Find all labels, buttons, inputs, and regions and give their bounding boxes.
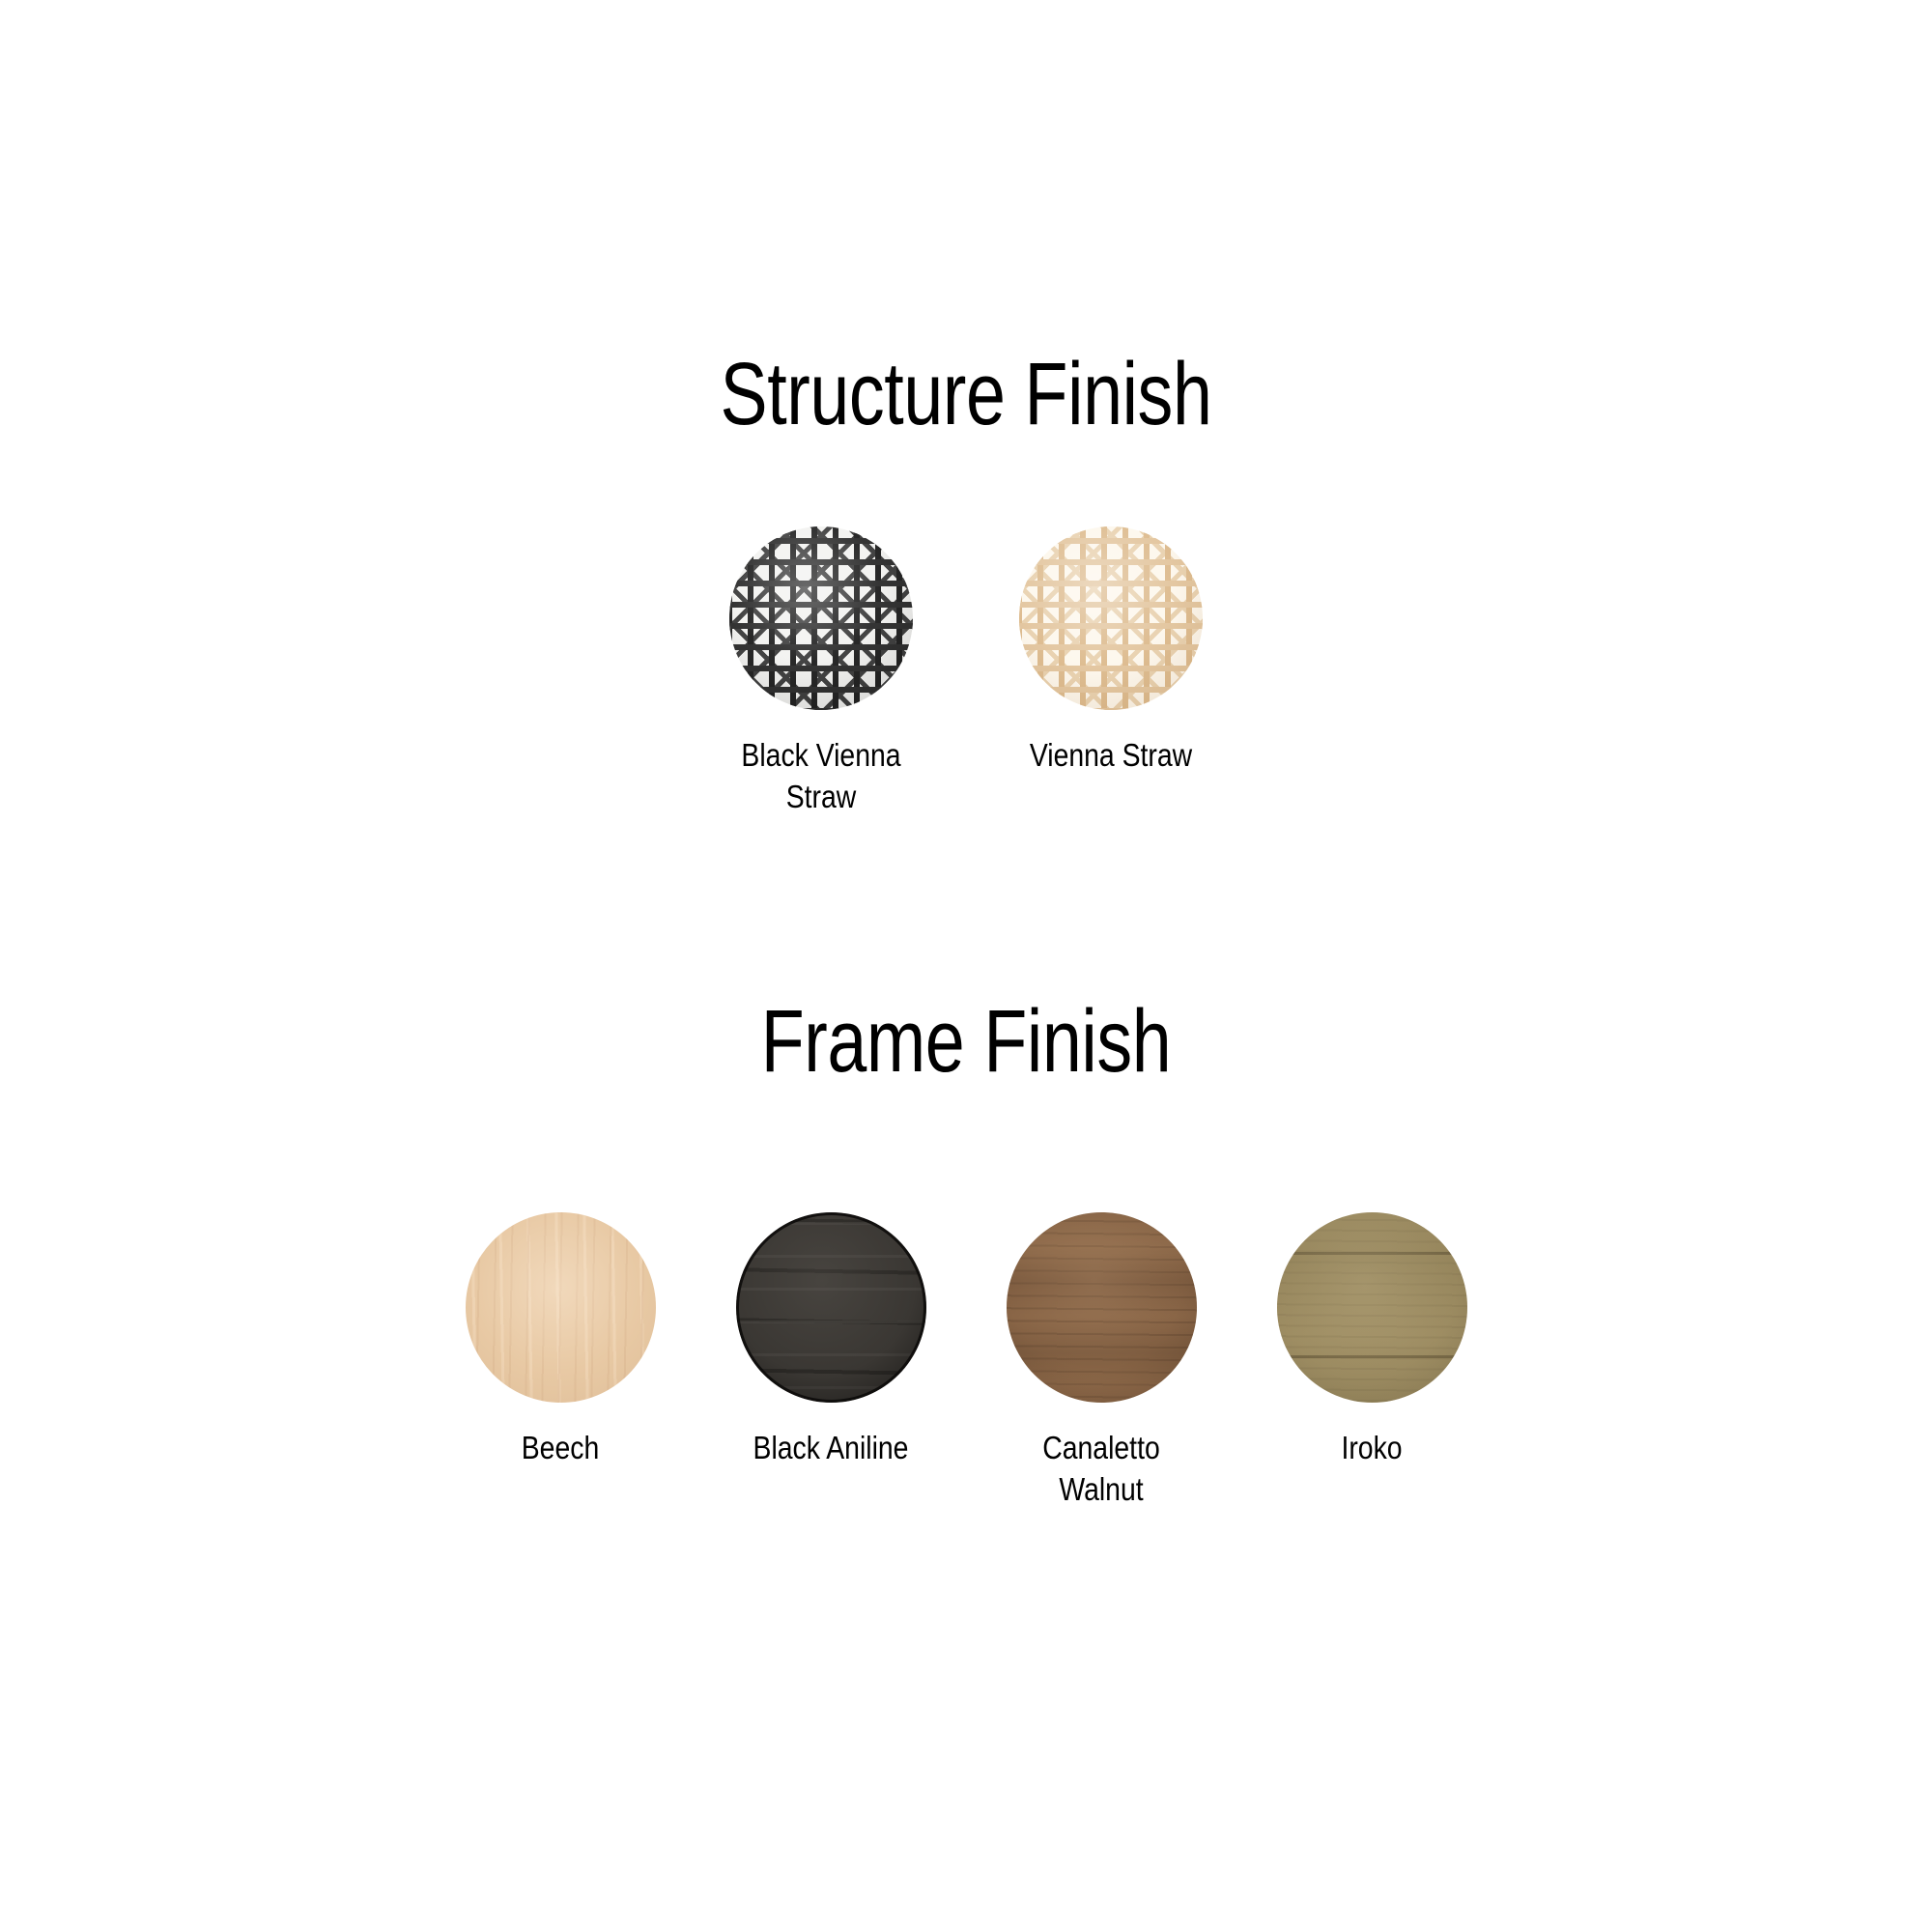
cane-weave-texture [1019,526,1203,710]
swatch-shading-overlay [729,526,913,710]
wood-texture [1007,1212,1197,1403]
frame-finish-heading-container: Frame Finish [0,995,1932,1089]
vienna-straw-swatch[interactable] [1019,526,1203,710]
swatch-shading-overlay [736,1212,926,1403]
swatch-option-iroko[interactable]: Iroko [1236,1212,1507,1469]
swatch-option-black-vienna-straw[interactable]: Black Vienna Straw [676,526,966,818]
iroko-swatch[interactable] [1277,1212,1467,1403]
black-aniline-swatch[interactable] [736,1212,926,1403]
structure-finish-heading: Structure Finish [193,348,1739,441]
swatch-option-beech[interactable]: Beech [425,1212,696,1469]
finish-options-page: Structure Finish Black Vienna Straw [0,0,1932,1932]
swatch-option-black-aniline[interactable]: Black Aniline [696,1212,966,1469]
structure-finish-swatch-row: Black Vienna Straw Vienna Straw [0,526,1932,818]
swatch-shading-overlay [1007,1212,1197,1403]
canaletto-walnut-swatch[interactable] [1007,1212,1197,1403]
swatch-label-canaletto-walnut: Canaletto Walnut [1002,1428,1201,1511]
swatch-label-iroko: Iroko [1272,1428,1471,1469]
black-vienna-straw-swatch[interactable] [729,526,913,710]
structure-finish-heading-container: Structure Finish [0,348,1932,441]
wood-texture [466,1212,656,1403]
swatch-option-canaletto-walnut[interactable]: Canaletto Walnut [966,1212,1236,1511]
cane-weave-texture [729,526,913,710]
swatch-label-vienna-straw: Vienna Straw [1015,735,1207,777]
swatch-option-vienna-straw[interactable]: Vienna Straw [966,526,1256,777]
beech-swatch[interactable] [466,1212,656,1403]
wood-texture [1277,1212,1467,1403]
swatch-label-black-vienna-straw: Black Vienna Straw [725,735,917,818]
swatch-label-black-aniline: Black Aniline [731,1428,930,1469]
swatch-shading-overlay [1277,1212,1467,1403]
frame-finish-swatch-row: Beech Black Aniline Canaletto Walnut [0,1212,1932,1511]
wood-texture [736,1212,926,1403]
frame-finish-heading: Frame Finish [193,995,1739,1089]
swatch-shading-overlay [1019,526,1203,710]
swatch-label-beech: Beech [461,1428,660,1469]
swatch-shading-overlay [466,1212,656,1403]
